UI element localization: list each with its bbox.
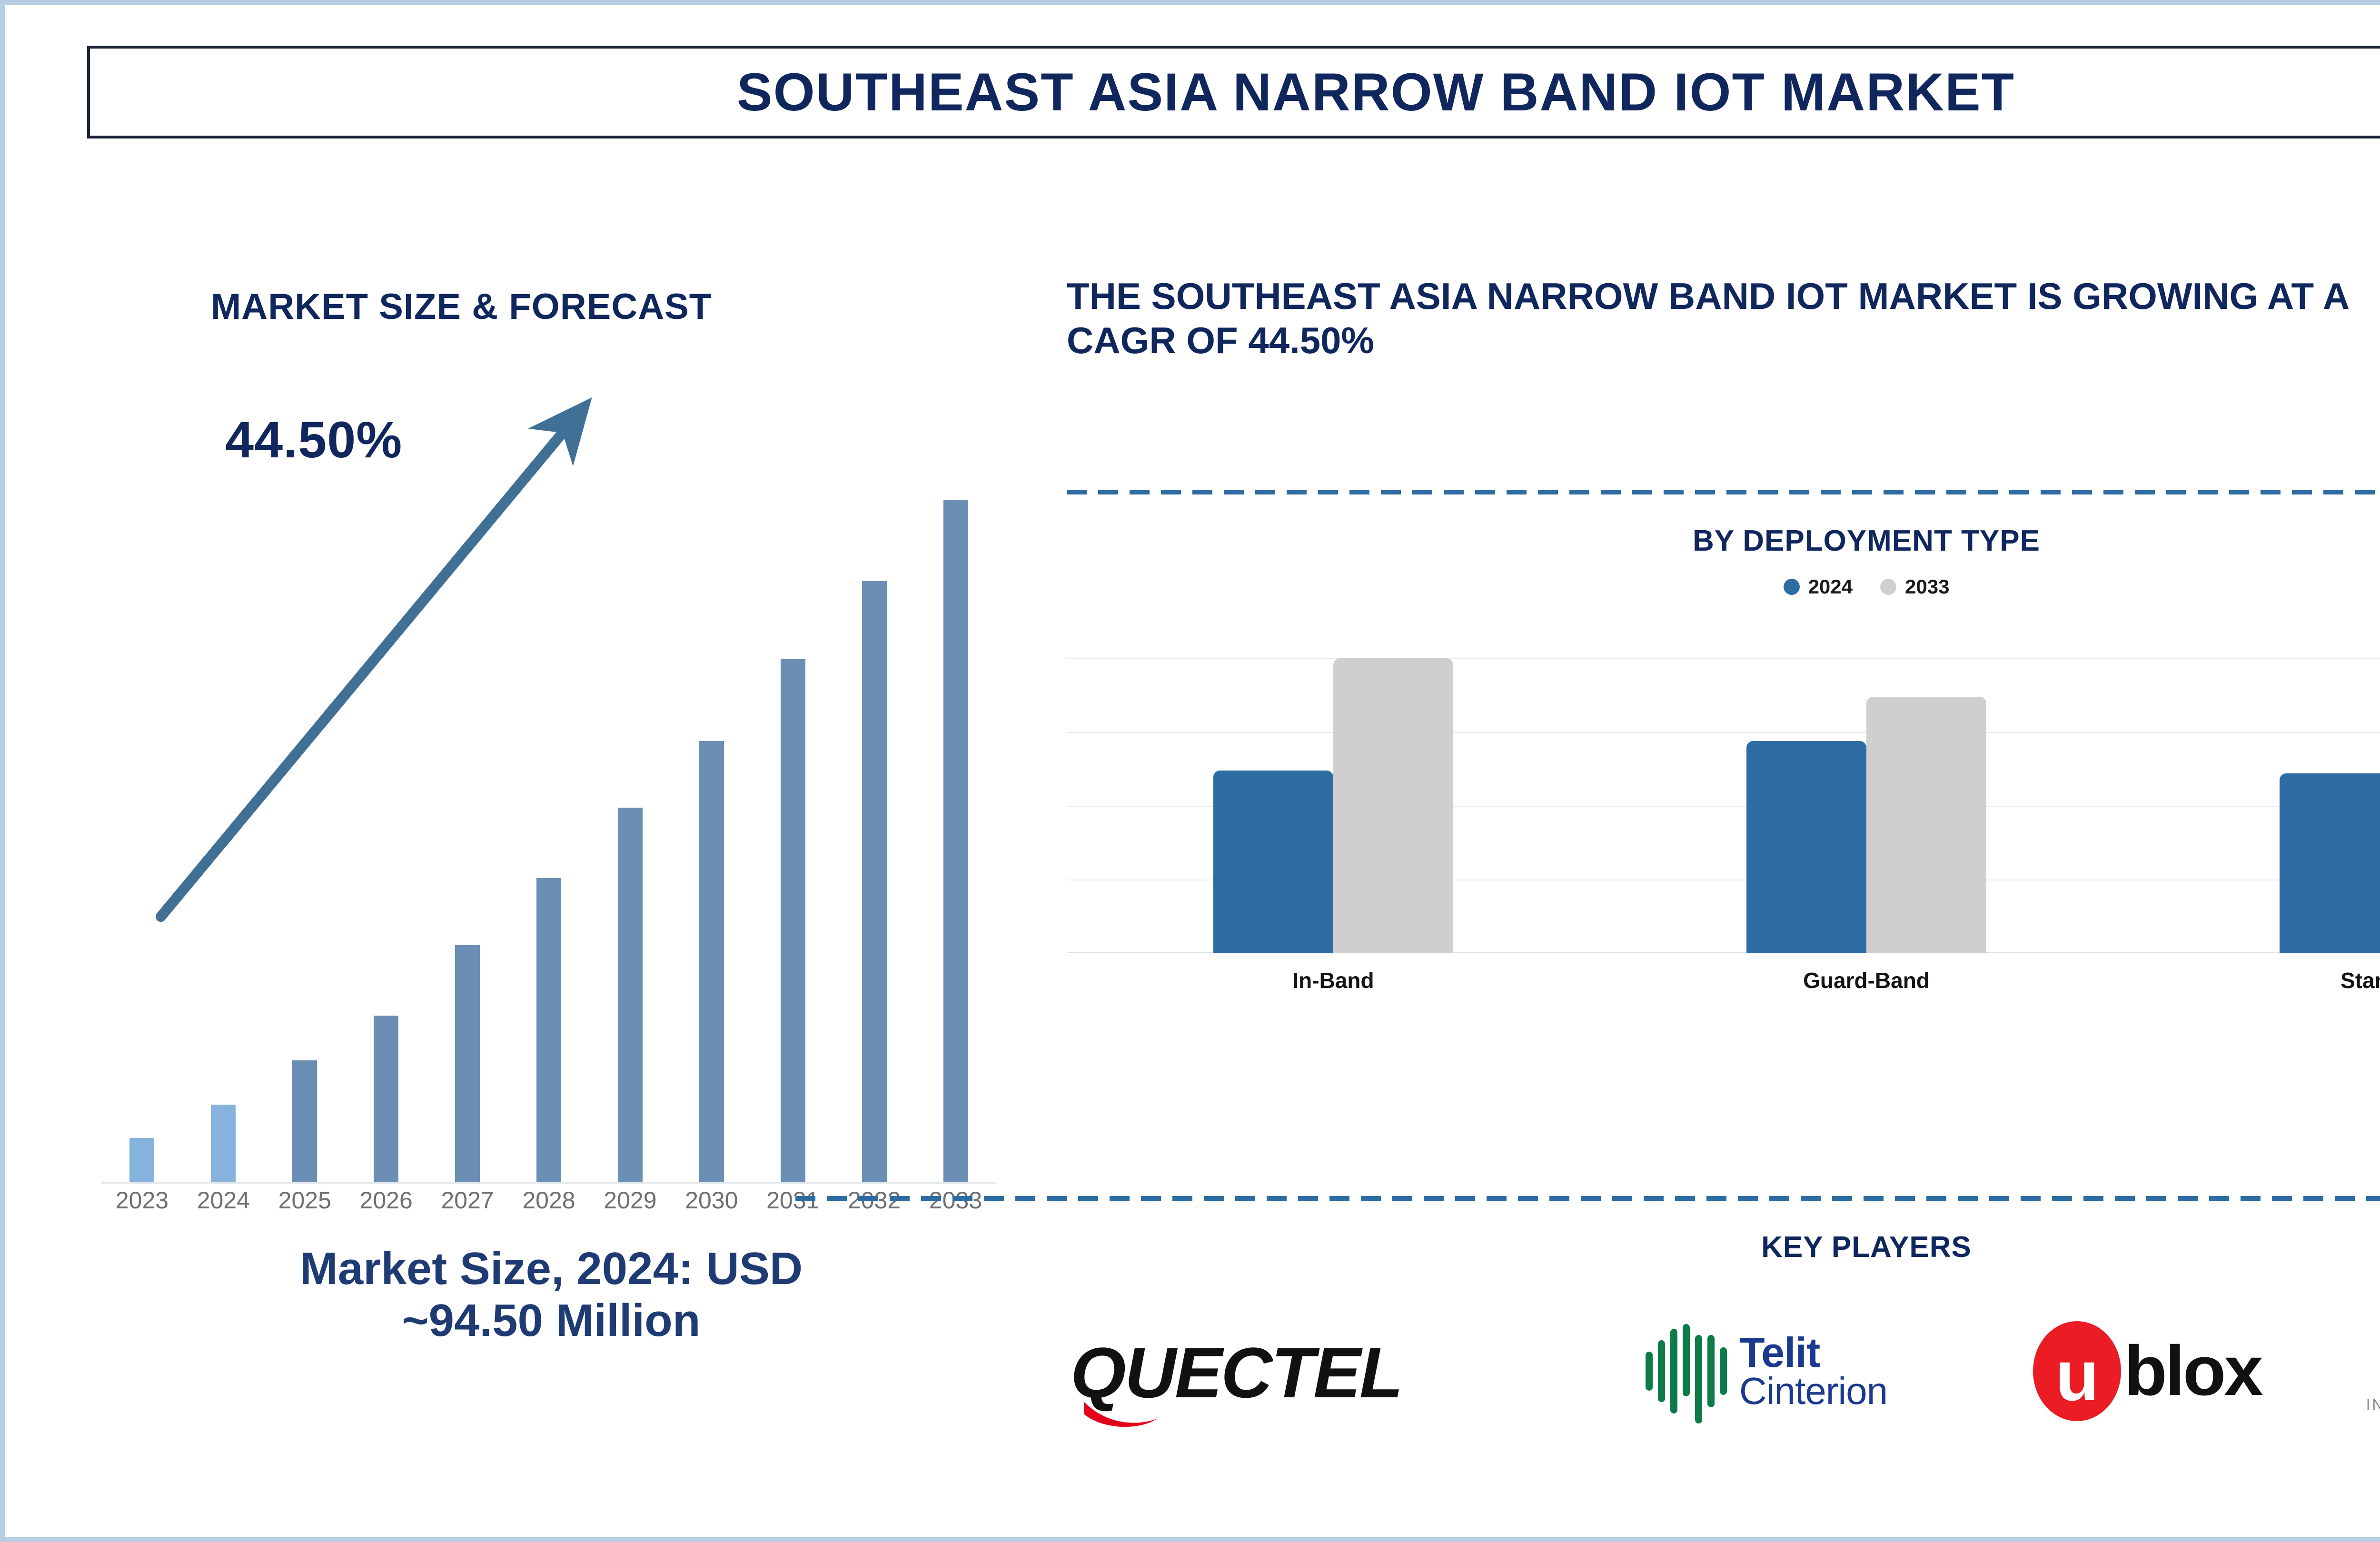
poster-frame: SOUTHEAST ASIA NARROW BAND IOT MARKET MA…: [0, 0, 2380, 1542]
legend-item-2024: 2024: [1784, 575, 1853, 598]
year-tick: 2028: [508, 1186, 590, 1220]
bar-cell: [346, 440, 427, 1183]
quectel-wordmark: QUECTEL: [1071, 1333, 1402, 1413]
bar-cell: [589, 440, 671, 1183]
logo-quectel: QUECTEL: [1067, 1300, 1557, 1443]
deployment-type-chart: [1067, 658, 2380, 953]
waveform-bar: [1707, 1335, 1715, 1407]
growth-bar: [781, 659, 805, 1183]
year-axis-labels: 2023 2024 2025 2026 2027 2028 2029 2030 …: [101, 1186, 996, 1220]
year-tick: 2027: [427, 1186, 508, 1220]
bar-cell: [264, 440, 346, 1183]
key-players-title: KEY PLAYERS: [1067, 1230, 2380, 1264]
growth-bar: [536, 878, 561, 1183]
category-label: Guard-Band: [1600, 968, 2133, 993]
legend-item-2033: 2033: [1880, 575, 1949, 598]
category-label: In-Band: [1067, 968, 1600, 993]
murata-tagline: INNOVATOR IN ELECTRONICS: [2366, 1396, 2380, 1414]
year-tick: 2033: [915, 1186, 996, 1220]
cagr-headline: THE SOUTHEAST ASIA NARROW BAND IOT MARKE…: [1067, 274, 2380, 363]
growth-bar: [211, 1105, 236, 1183]
market-size-line-1: Market Size, 2024: USD: [87, 1243, 1015, 1295]
growth-bar: [292, 1060, 317, 1183]
growth-bars: [101, 440, 996, 1183]
title-box: SOUTHEAST ASIA NARROW BAND IOT MARKET: [87, 46, 2380, 138]
legend-label: 2033: [1905, 575, 1949, 598]
bar-group-guard-band: [1600, 658, 2133, 953]
bar-2033: [1866, 697, 1986, 953]
bar-group-standalone: [2133, 658, 2380, 953]
telit-word-top: Telit: [1739, 1333, 1887, 1373]
category-label: Standalone: [2133, 968, 2380, 993]
year-tick: 2030: [671, 1186, 752, 1220]
bar-cell: [101, 440, 183, 1183]
growth-bar: [374, 1016, 398, 1183]
market-size-forecast-heading: MARKET SIZE & FORECAST: [211, 286, 712, 327]
year-tick: 2032: [833, 1186, 915, 1220]
left-panel: MARKET SIZE & FORECAST 44.50%: [87, 172, 1015, 1485]
year-tick: 2031: [752, 1186, 833, 1220]
bar-cell: [183, 440, 264, 1183]
year-tick: 2029: [589, 1186, 671, 1220]
growth-bar: [129, 1138, 154, 1183]
key-players-logo-row: QUECTEL Telit: [1067, 1300, 2380, 1443]
growth-bar: [862, 581, 887, 1183]
telit-word-bottom: Cinterion: [1739, 1373, 1887, 1410]
x-axis-line: [101, 1182, 996, 1184]
deployment-category-labels: In-Band Guard-Band Standalone: [1067, 968, 2380, 993]
bar-cell: [915, 440, 996, 1183]
right-panel: THE SOUTHEAST ASIA NARROW BAND IOT MARKE…: [1067, 172, 2380, 1500]
waveform-bar: [1646, 1352, 1653, 1391]
waveform-bar: [1695, 1335, 1702, 1423]
bar-cell: [508, 440, 590, 1183]
logo-ublox: u blox: [1976, 1300, 2319, 1443]
logo-telit-cinterion: Telit Cinterion: [1571, 1300, 1962, 1443]
bar-cell: [671, 440, 752, 1183]
waveform-bar: [1658, 1340, 1665, 1402]
market-size-forecast-chart: 44.50%: [87, 376, 1015, 1228]
bar-2033: [1333, 658, 1453, 953]
bar-2024: [2280, 773, 2380, 953]
growth-bar: [699, 741, 724, 1183]
logo-murata: muRata INNOVATOR IN ELECTRONICS: [2333, 1300, 2380, 1443]
waveform-bar: [1683, 1324, 1690, 1396]
year-tick: 2023: [101, 1186, 183, 1220]
ublox-wordmark: blox: [2124, 1336, 2261, 1406]
growth-bar: [943, 500, 968, 1183]
year-tick: 2025: [264, 1186, 346, 1220]
legend-dot-icon: [1784, 579, 1800, 595]
bar-cell: [427, 440, 508, 1183]
dashed-separator-top: [1067, 490, 2380, 494]
ublox-circle-icon: u: [2033, 1321, 2121, 1421]
market-size-note: Market Size, 2024: USD ~94.50 Million: [87, 1243, 1015, 1347]
growth-bar: [618, 808, 643, 1183]
deployment-bar-groups: [1067, 658, 2380, 953]
legend-label: 2024: [1808, 575, 1853, 598]
growth-bar: [455, 945, 480, 1183]
bar-2024: [1213, 771, 1333, 953]
quectel-logo-icon: QUECTEL: [1067, 1300, 1557, 1443]
bar-cell: [833, 440, 915, 1183]
bar-2024: [1746, 741, 1866, 953]
page-title: SOUTHEAST ASIA NARROW BAND IOT MARKET: [737, 61, 2015, 123]
year-tick: 2026: [346, 1186, 427, 1220]
waveform-bar: [1720, 1347, 1727, 1395]
market-size-line-2: ~94.50 Million: [87, 1295, 1015, 1346]
bar-cell: [752, 440, 833, 1183]
dashed-separator-bottom: [795, 1196, 2380, 1201]
poster-inner: SOUTHEAST ASIA NARROW BAND IOT MARKET MA…: [5, 5, 2380, 1537]
telit-waveform-icon: [1646, 1326, 1727, 1416]
ublox-u-letter: u: [2055, 1340, 2099, 1411]
waveform-bar: [1670, 1329, 1677, 1413]
deployment-type-title: BY DEPLOYMENT TYPE: [1067, 524, 2380, 558]
telit-wordmark: Telit Cinterion: [1739, 1333, 1887, 1409]
legend-dot-icon: [1880, 579, 1896, 595]
bar-group-in-band: [1067, 658, 1600, 953]
year-tick: 2024: [183, 1186, 264, 1220]
deployment-chart-legend: 2024 2033: [1067, 575, 2380, 598]
